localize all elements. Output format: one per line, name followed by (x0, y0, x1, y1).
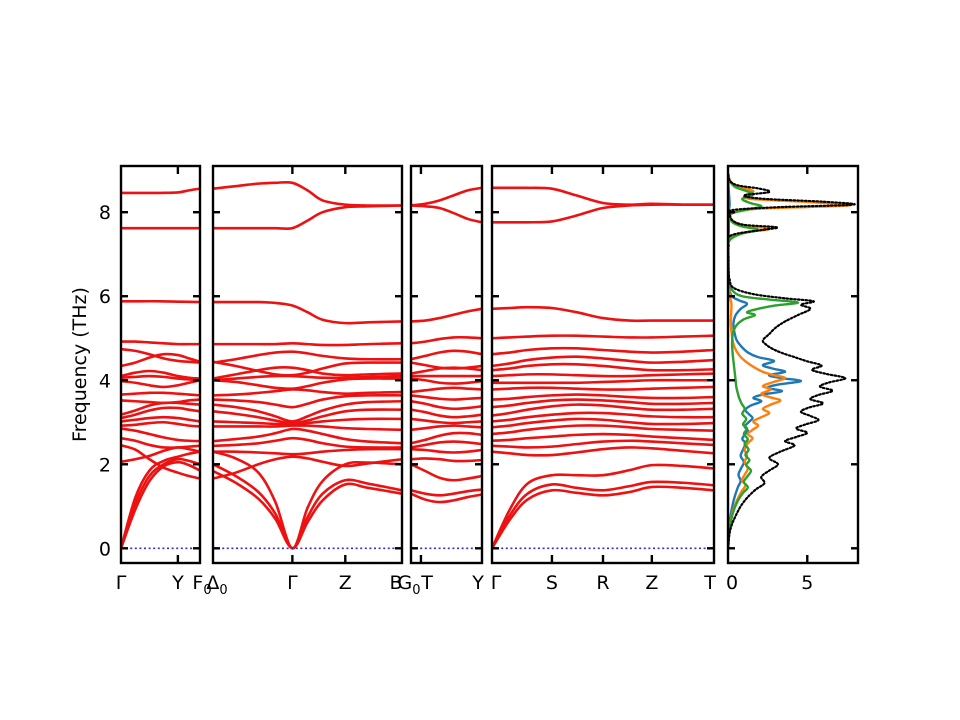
ytick-label-8: 8 (99, 202, 111, 224)
xtick-label-s: S (546, 572, 558, 594)
xtick-label-z-p2: Z (339, 572, 352, 594)
dos-xtick-label-5: 5 (801, 572, 813, 594)
dos-xtick-label-0: 0 (726, 572, 738, 594)
ytick-label-2: 2 (99, 454, 111, 476)
xtick-label-t-p4: T (703, 572, 716, 594)
band-curve (213, 343, 402, 345)
phonon-figure: 02468Frequency (THz)ΓYF0Δ0ΓZBG0TYΓSRZT05 (0, 0, 960, 720)
xtick-label-gamma-p2: Γ (287, 572, 298, 594)
band-curve (492, 336, 714, 339)
ytick-label-4: 4 (99, 370, 111, 392)
plot-svg: 02468Frequency (THz)ΓYF0Δ0ΓZBG0TYΓSRZT05 (0, 0, 960, 720)
xtick-label-z-p4: Z (645, 572, 658, 594)
xtick-label-r: R (596, 572, 609, 594)
ytick-label-0: 0 (99, 538, 111, 560)
ytick-label-6: 6 (99, 286, 111, 308)
xtick-label-gamma-p1: Γ (116, 572, 127, 594)
xtick-label-gamma-p4: Γ (491, 572, 502, 594)
xtick-label-y-p3: Y (471, 572, 484, 594)
y-axis-label: Frequency (THz) (69, 287, 91, 442)
xtick-label-y-p1: Y (171, 572, 184, 594)
band-curve (121, 301, 200, 302)
xtick-label-t-p3: T (420, 572, 433, 594)
